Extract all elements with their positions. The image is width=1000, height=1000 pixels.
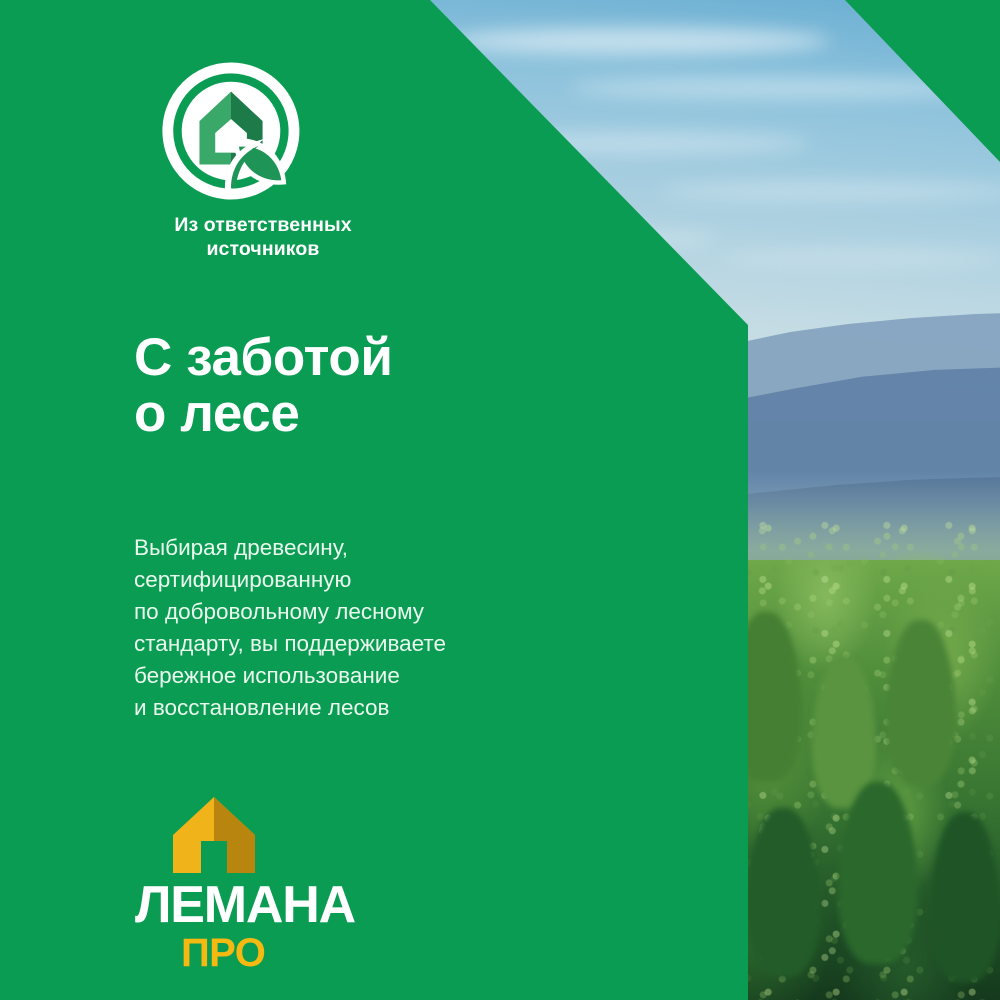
body-paragraph: Выбирая древесину, сертифицированную по … xyxy=(134,532,446,724)
brand-name: ЛЕМАНА xyxy=(135,879,395,931)
page-title: С заботой о лесе xyxy=(134,330,393,442)
brand-logo: ЛЕМАНА ПРО xyxy=(135,795,395,973)
poster-content: Из ответственных источников С заботой о … xyxy=(0,0,748,1000)
eco-certification-badge: Из ответственных источников xyxy=(134,62,434,262)
poster-root: Из ответственных источников С заботой о … xyxy=(0,0,1000,1000)
brand-subname: ПРО xyxy=(181,933,395,973)
house-leaf-circle-icon xyxy=(162,62,300,200)
lemana-house-icon xyxy=(171,795,257,875)
eco-badge-caption: Из ответственных источников xyxy=(134,214,392,262)
